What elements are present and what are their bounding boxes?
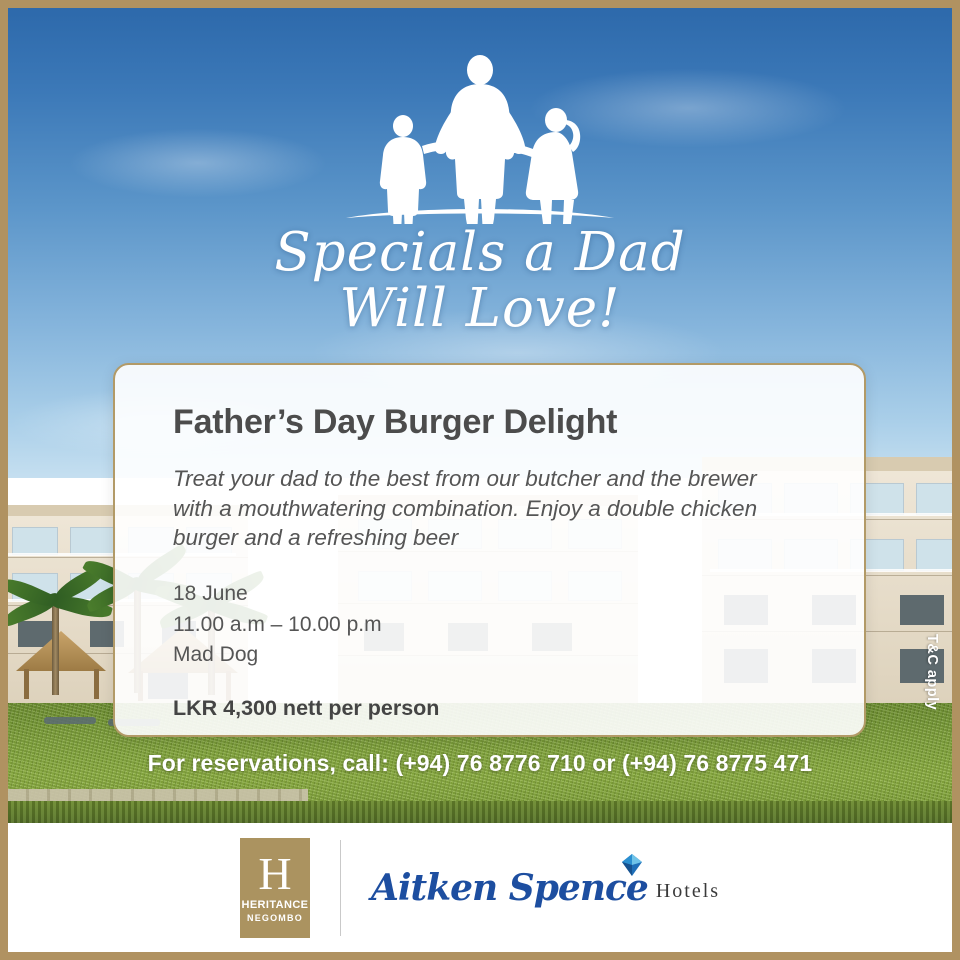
offer-price: LKR 4,300 nett per person [173,696,864,721]
offer-date: 18 June [173,579,864,609]
poster-root: Specials a Dad Will Love! Father’s Day B… [0,0,960,960]
poster-frame-inner: Specials a Dad Will Love! Father’s Day B… [8,8,952,952]
heritance-negombo-logo: H HERITANCE NEGOMBO [240,838,310,938]
offer-title: Father’s Day Burger Delight [173,403,864,442]
heritance-name: HERITANCE [241,899,308,911]
aitken-spence-wordmark: Aitken Spence [371,870,648,906]
offer-time: 11.00 a.m – 10.00 p.m [173,610,864,640]
terms-and-conditions-note: T&C apply [924,634,940,710]
family-silhouette-icon [8,54,952,224]
offer-description: Treat your dad to the best from our butc… [173,464,798,553]
palm-tree [52,599,59,695]
heritance-monogram: H [258,852,291,896]
reservations-line: For reservations, call: (+94) 76 8776 71… [8,750,952,777]
aitken-spence-hotels-logo: Aitken Spence Hotels [371,870,720,906]
footer-logo-bar: H HERITANCE NEGOMBO Aitken Spence Hotels [8,823,952,952]
heritance-location: NEGOMBO [247,913,303,923]
offer-venue: Mad Dog [173,640,864,670]
aitken-hotels-suffix: Hotels [656,880,720,903]
logo-divider [340,840,341,936]
diamond-gem-icon [622,854,642,876]
offer-details: 18 June 11.00 a.m – 10.00 p.m Mad Dog [173,579,864,670]
hedge-row [8,801,952,823]
offer-card: Father’s Day Burger Delight Treat your d… [113,363,866,737]
